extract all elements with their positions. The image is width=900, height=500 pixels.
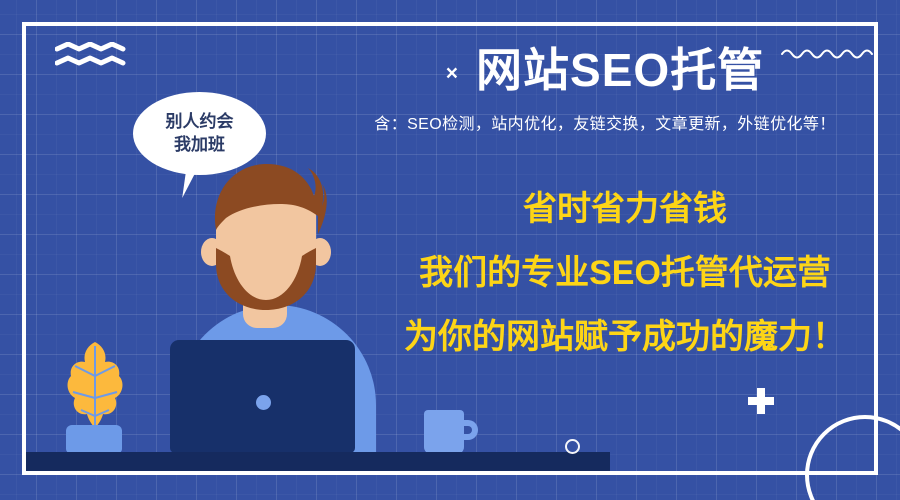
slogan-line-3: 为你的网站赋予成功的魔力！	[370, 320, 880, 354]
page-title: 网站SEO托管	[476, 45, 764, 96]
speech-bubble-line-1: 别人约会	[166, 111, 234, 133]
slogan-line-1: 省时省力省钱	[370, 192, 880, 226]
speech-bubble: 别人约会 我加班	[133, 92, 266, 175]
slogan-block: 省时省力省钱 我们的专业SEO托管代运营 为你的网站赋予成功的魔力！	[370, 192, 880, 354]
desk-surface	[26, 452, 610, 475]
character-head	[196, 160, 336, 320]
laptop	[170, 340, 355, 453]
page-subtitle: 含：SEO检测，站内优化，友链交换，文章更新，外链优化等！	[340, 110, 870, 134]
plant-icon	[55, 336, 135, 432]
small-circle-icon	[565, 439, 580, 454]
speech-bubble-line-2: 我加班	[174, 134, 225, 156]
x-mark-icon: ×	[446, 63, 458, 84]
mug-handle	[460, 420, 478, 440]
slogan-line-2: 我们的专业SEO托管代运营	[370, 256, 880, 290]
plus-icon	[748, 388, 774, 414]
laptop-logo-icon	[256, 395, 271, 410]
plant-pot	[66, 425, 122, 453]
wave-left-icon	[55, 42, 130, 68]
wave-right-icon	[780, 45, 880, 61]
seo-hosting-banner: 别人约会 我加班 × 网站SEO托管 含：SEO检测，站内优化，友链交换，文章更…	[0, 0, 900, 500]
coffee-mug	[424, 410, 464, 454]
